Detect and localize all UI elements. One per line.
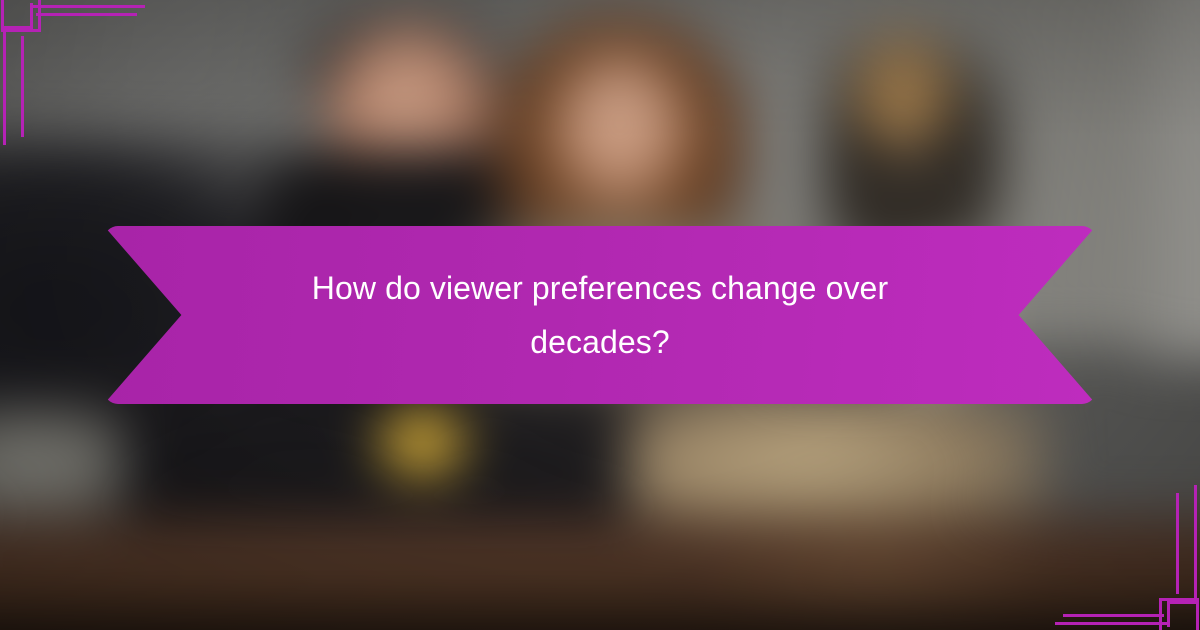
background-table-sheen — [706, 518, 1049, 623]
background-left-highlight — [0, 405, 125, 525]
background-person-woman-face — [554, 53, 686, 203]
background-yellow-accent — [376, 405, 468, 480]
background-floor — [0, 615, 1200, 630]
background-right-panel — [1141, 0, 1200, 360]
headline-ribbon-banner: How do viewer preferences change over de… — [104, 226, 1096, 404]
hero-card: How do viewer preferences change over de… — [0, 0, 1200, 630]
background-right-object-highlight — [851, 30, 957, 150]
page-title: How do viewer preferences change over de… — [250, 261, 950, 369]
headline-container: How do viewer preferences change over de… — [250, 261, 950, 369]
